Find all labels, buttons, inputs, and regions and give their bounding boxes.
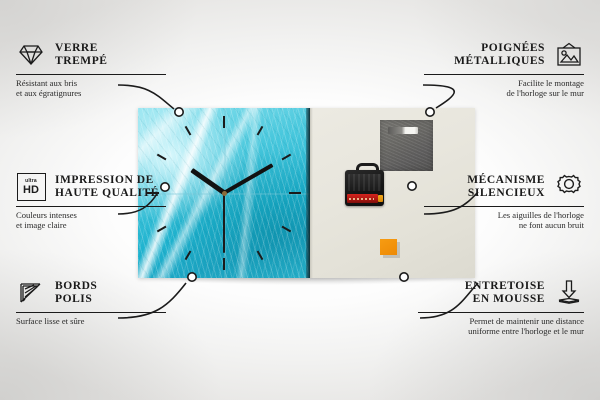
clock-marker xyxy=(223,116,225,128)
callout-header-row: BORDS POLIS xyxy=(16,278,166,308)
callout-description: Surface lisse et sûre xyxy=(16,316,166,326)
callout-header-row: MÉCANISME SILENCIEUX xyxy=(424,172,584,202)
callout-poignees-metalliques: POIGNÉES MÉTALLIQUES Facilite le montage… xyxy=(424,40,584,99)
arrow-down-to-layers-icon xyxy=(554,278,584,308)
callout-header-row: POIGNÉES MÉTALLIQUES xyxy=(424,40,584,70)
clock-center-hub xyxy=(222,191,227,196)
callout-bords-polis: BORDS POLIS Surface lisse et sûre xyxy=(16,278,166,326)
callout-description: Couleurs intenses et image claire xyxy=(16,210,166,231)
polished-edge-lines-icon xyxy=(16,278,46,308)
callout-description: Les aiguilles de l'horloge ne font aucun… xyxy=(424,210,584,231)
gear-icon xyxy=(554,172,584,202)
callout-rule xyxy=(16,74,166,75)
hanger-slot xyxy=(388,127,418,134)
diamond-icon xyxy=(16,40,46,70)
callout-mecanisme-silencieux: MÉCANISME SILENCIEUX Les aiguilles de l'… xyxy=(424,172,584,231)
clock-marker xyxy=(282,154,292,161)
callout-heading: MÉCANISME SILENCIEUX xyxy=(467,174,545,201)
clock-second-hand xyxy=(223,193,225,253)
callout-heading: POIGNÉES MÉTALLIQUES xyxy=(454,42,545,69)
callout-rule xyxy=(418,312,584,313)
callout-heading: BORDS POLIS xyxy=(55,280,97,307)
callout-rule xyxy=(424,206,584,207)
clock-marker xyxy=(257,251,264,261)
metal-hanger-plate xyxy=(380,120,433,171)
callout-heading: VERRE TREMPÉ xyxy=(55,42,108,69)
clock-marker xyxy=(185,126,192,136)
ultra-hd-icon-label-main: HD xyxy=(23,185,39,196)
quartz-mechanism-box xyxy=(345,168,384,206)
callout-header-row: VERRE TREMPÉ xyxy=(16,40,166,70)
aa-battery xyxy=(347,194,378,203)
callout-header-row: ultra HD IMPRESSION DE HAUTE QUALITÉ xyxy=(16,172,166,202)
callout-verre-trempe: VERRE TREMPÉ Résistant aux bris et aux é… xyxy=(16,40,166,99)
clock-marker xyxy=(223,258,225,270)
infographic-canvas: VERRE TREMPÉ Résistant aux bris et aux é… xyxy=(0,0,600,400)
callout-description: Facilite le montage de l'horloge sur le … xyxy=(424,78,584,99)
callout-header-row: ENTRETOISE EN MOUSSE xyxy=(418,278,584,308)
callout-description: Résistant aux bris et aux égratignures xyxy=(16,78,166,99)
callout-heading: ENTRETOISE EN MOUSSE xyxy=(465,280,545,307)
foam-spacer xyxy=(380,239,397,255)
clock-marker xyxy=(257,126,264,136)
clock-marker xyxy=(289,192,301,194)
clock-marker xyxy=(185,251,192,261)
callout-entretoise-en-mousse: ENTRETOISE EN MOUSSE Permet de maintenir… xyxy=(418,278,584,337)
ultra-hd-icon: ultra HD xyxy=(16,172,46,202)
callout-rule xyxy=(424,74,584,75)
clock-back-left-edge xyxy=(310,108,313,278)
callout-impression-haute-qualite: ultra HD IMPRESSION DE HAUTE QUALITÉ Cou… xyxy=(16,172,166,231)
callout-heading: IMPRESSION DE HAUTE QUALITÉ xyxy=(55,174,159,201)
ultra-hd-icon-label-top: ultra xyxy=(25,179,37,184)
battery-positive-tip xyxy=(378,195,383,202)
mechanism-vents xyxy=(348,174,381,191)
clock-hour-hand xyxy=(190,168,226,195)
callout-rule xyxy=(16,312,166,313)
picture-frame-hanging-icon xyxy=(554,40,584,70)
mechanism-body xyxy=(345,170,384,206)
callout-rule xyxy=(16,206,166,207)
clock-minute-hand xyxy=(223,163,273,194)
clock-marker xyxy=(157,154,167,161)
clock-marker xyxy=(282,226,292,233)
callout-description: Permet de maintenir une distance uniform… xyxy=(418,316,584,337)
